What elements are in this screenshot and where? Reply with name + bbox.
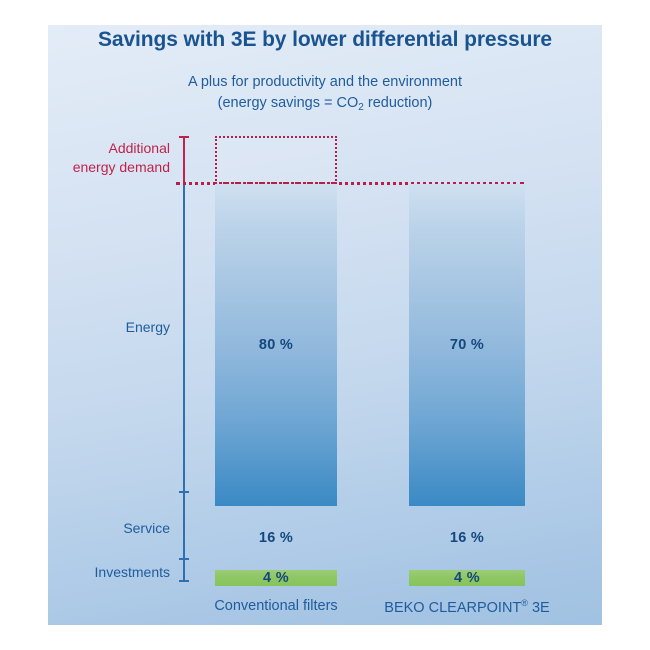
axis-tick-energy-bottom	[179, 491, 189, 493]
bar-segment-service-value: 16 %	[259, 530, 293, 546]
bar-segment-service-value: 16 %	[450, 530, 484, 546]
subtitle-line-1: A plus for productivity and the environm…	[48, 72, 602, 93]
subtitle-line-2-pre: (energy savings = CO	[218, 95, 359, 111]
subtitle-line-2-post: reduction)	[364, 95, 433, 111]
axis-label-investments: Investments	[42, 563, 170, 582]
axis-label-additional-energy-demand: Additional energy demand	[52, 139, 170, 177]
additional-energy-demand-bracket	[183, 136, 185, 184]
category-label-right-pre: BEKO CLEARPOINT	[384, 600, 521, 616]
bar-conventional-filters[interactable]: 80 % 16 % 4 %	[215, 184, 337, 586]
page-title: Savings with 3E by lower differential pr…	[48, 28, 602, 52]
additional-energy-demand-box	[215, 136, 337, 184]
subtitle-line-2: (energy savings = CO2 reduction)	[48, 93, 602, 115]
bar-segment-investments-value: 4 %	[263, 570, 289, 586]
bar-segment-energy[interactable]: 70 %	[409, 184, 525, 506]
axis-label-additional-line-1: Additional	[52, 139, 170, 158]
category-label-beko-clearpoint-3e: BEKO CLEARPOINT® 3E	[378, 598, 556, 616]
axis-tick-service-bottom	[179, 558, 189, 560]
axis-tick-baseline	[179, 580, 189, 582]
bar-segment-service[interactable]: 16 %	[409, 506, 525, 570]
bar-segment-investments-value: 4 %	[454, 570, 480, 586]
page-subtitle: A plus for productivity and the environm…	[48, 72, 602, 115]
bar-segment-service[interactable]: 16 %	[215, 506, 337, 570]
co2-subscript: 2	[358, 102, 364, 113]
axis-label-energy: Energy	[52, 318, 170, 337]
vertical-scale-axis	[183, 184, 185, 582]
bar-segment-investments[interactable]: 4 %	[409, 570, 525, 586]
bar-segment-energy[interactable]: 80 %	[215, 184, 337, 506]
bar-segment-investments[interactable]: 4 %	[215, 570, 337, 586]
infographic-root: Savings with 3E by lower differential pr…	[0, 0, 650, 650]
axis-label-additional-line-2: energy demand	[52, 158, 170, 177]
axis-label-service: Service	[52, 519, 170, 538]
bar-segment-energy-value: 70 %	[450, 337, 484, 353]
bar-segment-energy-value: 80 %	[259, 337, 293, 353]
category-label-conventional-filters: Conventional filters	[190, 598, 362, 614]
registered-trademark-icon: ®	[521, 598, 528, 608]
category-label-right-post: 3E	[528, 600, 550, 616]
bar-beko-clearpoint-3e[interactable]: 70 % 16 % 4 %	[409, 184, 525, 586]
